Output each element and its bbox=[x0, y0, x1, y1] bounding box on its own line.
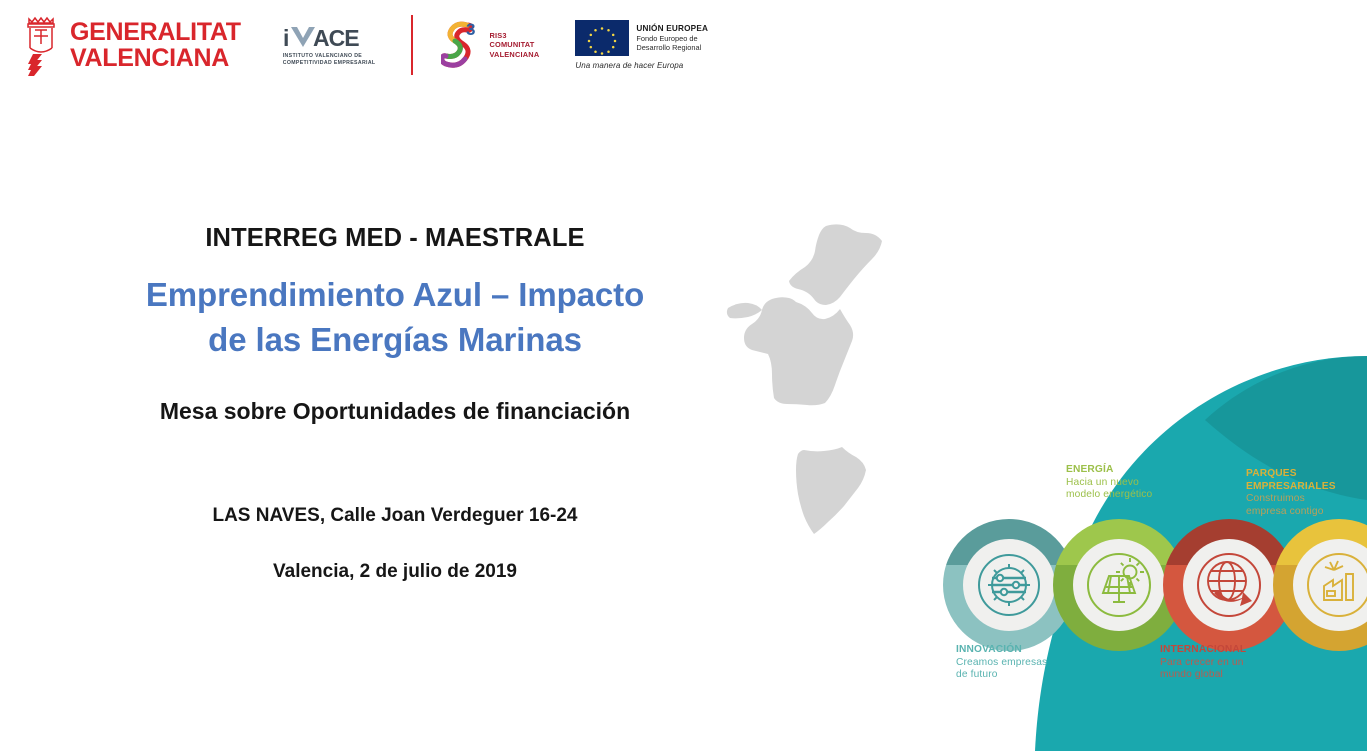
ivace-subtitle-line-2: COMPETITIVIDAD EMPRESARIAL bbox=[283, 60, 376, 67]
logo-generalitat-valenciana: GENERALITAT VALENCIANA bbox=[22, 14, 241, 76]
infographic-label-energia: ENERGÍA Hacia un nuevo modelo energético bbox=[1066, 464, 1152, 502]
generalitat-wordmark: GENERALITAT VALENCIANA bbox=[70, 19, 241, 71]
generalitat-crest-icon bbox=[22, 14, 62, 76]
innovacion-desc-line-2: de futuro bbox=[956, 669, 1047, 682]
parques-desc-line-1: Construimos bbox=[1246, 493, 1336, 506]
ris3-wordmark: RIS3 COMUNITAT VALENCIANA bbox=[489, 31, 539, 60]
logo-ivace: i ACE INSTITUTO VALENCIANO DE COMPETITIV… bbox=[283, 24, 376, 67]
generalitat-line-2: VALENCIANA bbox=[70, 45, 241, 71]
energia-desc-line-1: Hacia un nuevo bbox=[1066, 477, 1152, 490]
svg-text:i: i bbox=[283, 25, 289, 50]
logo-bar: GENERALITAT VALENCIANA i ACE INSTITUTO V… bbox=[0, 0, 1367, 90]
energia-desc-line-2: modelo energético bbox=[1066, 489, 1152, 502]
internacional-caption: INTERNACIONAL bbox=[1160, 644, 1246, 657]
infographic-label-innovacion: INNOVACIÓN Creamos empresas de futuro bbox=[956, 644, 1047, 682]
ris3-line-1: RIS3 bbox=[489, 31, 539, 41]
parques-desc-line-2: empresa contigo bbox=[1246, 506, 1336, 519]
parques-caption-line-1: PARQUES bbox=[1246, 468, 1336, 481]
comunitat-valenciana-map bbox=[700, 210, 940, 560]
internacional-desc-line-2: mundo global bbox=[1160, 669, 1246, 682]
svg-text:ACE: ACE bbox=[313, 25, 359, 50]
slide-kicker: INTERREG MED - MAESTRALE bbox=[40, 222, 750, 254]
innovacion-desc-line-1: Creamos empresas bbox=[956, 657, 1047, 670]
ivace-subtitle: INSTITUTO VALENCIANO DE COMPETITIVIDAD E… bbox=[283, 53, 376, 67]
logo-ris3: 3 RIS3 COMUNITAT VALENCIANA bbox=[441, 19, 539, 71]
eu-title: UNIÓN EUROPEA bbox=[636, 24, 708, 34]
slide-dateline: Valencia, 2 de julio de 2019 bbox=[40, 558, 750, 586]
slide-subtitle: Mesa sobre Oportunidades de financiación bbox=[40, 396, 750, 426]
slide-title: Emprendimiento Azul – Impacto de las Ene… bbox=[40, 272, 750, 362]
generalitat-line-1: GENERALITAT bbox=[70, 19, 241, 45]
logo-union-europea: UNIÓN EUROPEA Fondo Europeo de Desarroll… bbox=[575, 20, 708, 70]
infographic-label-internacional: INTERNACIONAL Para crecer en un mundo gl… bbox=[1160, 644, 1246, 682]
svg-text:3: 3 bbox=[466, 20, 475, 39]
ris3-mark-icon: 3 bbox=[441, 19, 485, 71]
eu-subtitle-line-2: Desarrollo Regional bbox=[636, 43, 708, 52]
infographic-graphics bbox=[920, 350, 1367, 751]
eu-slogan: Una manera de hacer Europa bbox=[575, 61, 708, 70]
parques-caption-line-2: EMPRESARIALES bbox=[1246, 481, 1336, 494]
ivace-strategy-infographic: INNOVACIÓN Creamos empresas de futuro EN… bbox=[920, 350, 1367, 751]
eu-flag-icon bbox=[575, 20, 629, 56]
ivace-subtitle-line-1: INSTITUTO VALENCIANO DE bbox=[283, 53, 376, 60]
infographic-label-parques: PARQUES EMPRESARIALES Construimos empres… bbox=[1246, 468, 1336, 518]
slide-venue: LAS NAVES, Calle Joan Verdeguer 16-24 bbox=[40, 502, 750, 530]
internacional-desc-line-1: Para crecer en un bbox=[1160, 657, 1246, 670]
ris3-line-3: VALENCIANA bbox=[489, 50, 539, 60]
eu-subtitle-line-1: Fondo Europeo de bbox=[636, 34, 708, 43]
slide-title-line-2: de las Energías Marinas bbox=[40, 317, 750, 362]
slide-title-line-1: Emprendimiento Azul – Impacto bbox=[40, 272, 750, 317]
logo-divider bbox=[411, 15, 413, 75]
slide-text-block: INTERREG MED - MAESTRALE Emprendimiento … bbox=[40, 222, 750, 586]
energia-caption: ENERGÍA bbox=[1066, 464, 1152, 477]
innovacion-caption: INNOVACIÓN bbox=[956, 644, 1047, 657]
ivace-wordmark-icon: i ACE bbox=[283, 24, 369, 50]
ris3-line-2: COMUNITAT bbox=[489, 40, 539, 50]
